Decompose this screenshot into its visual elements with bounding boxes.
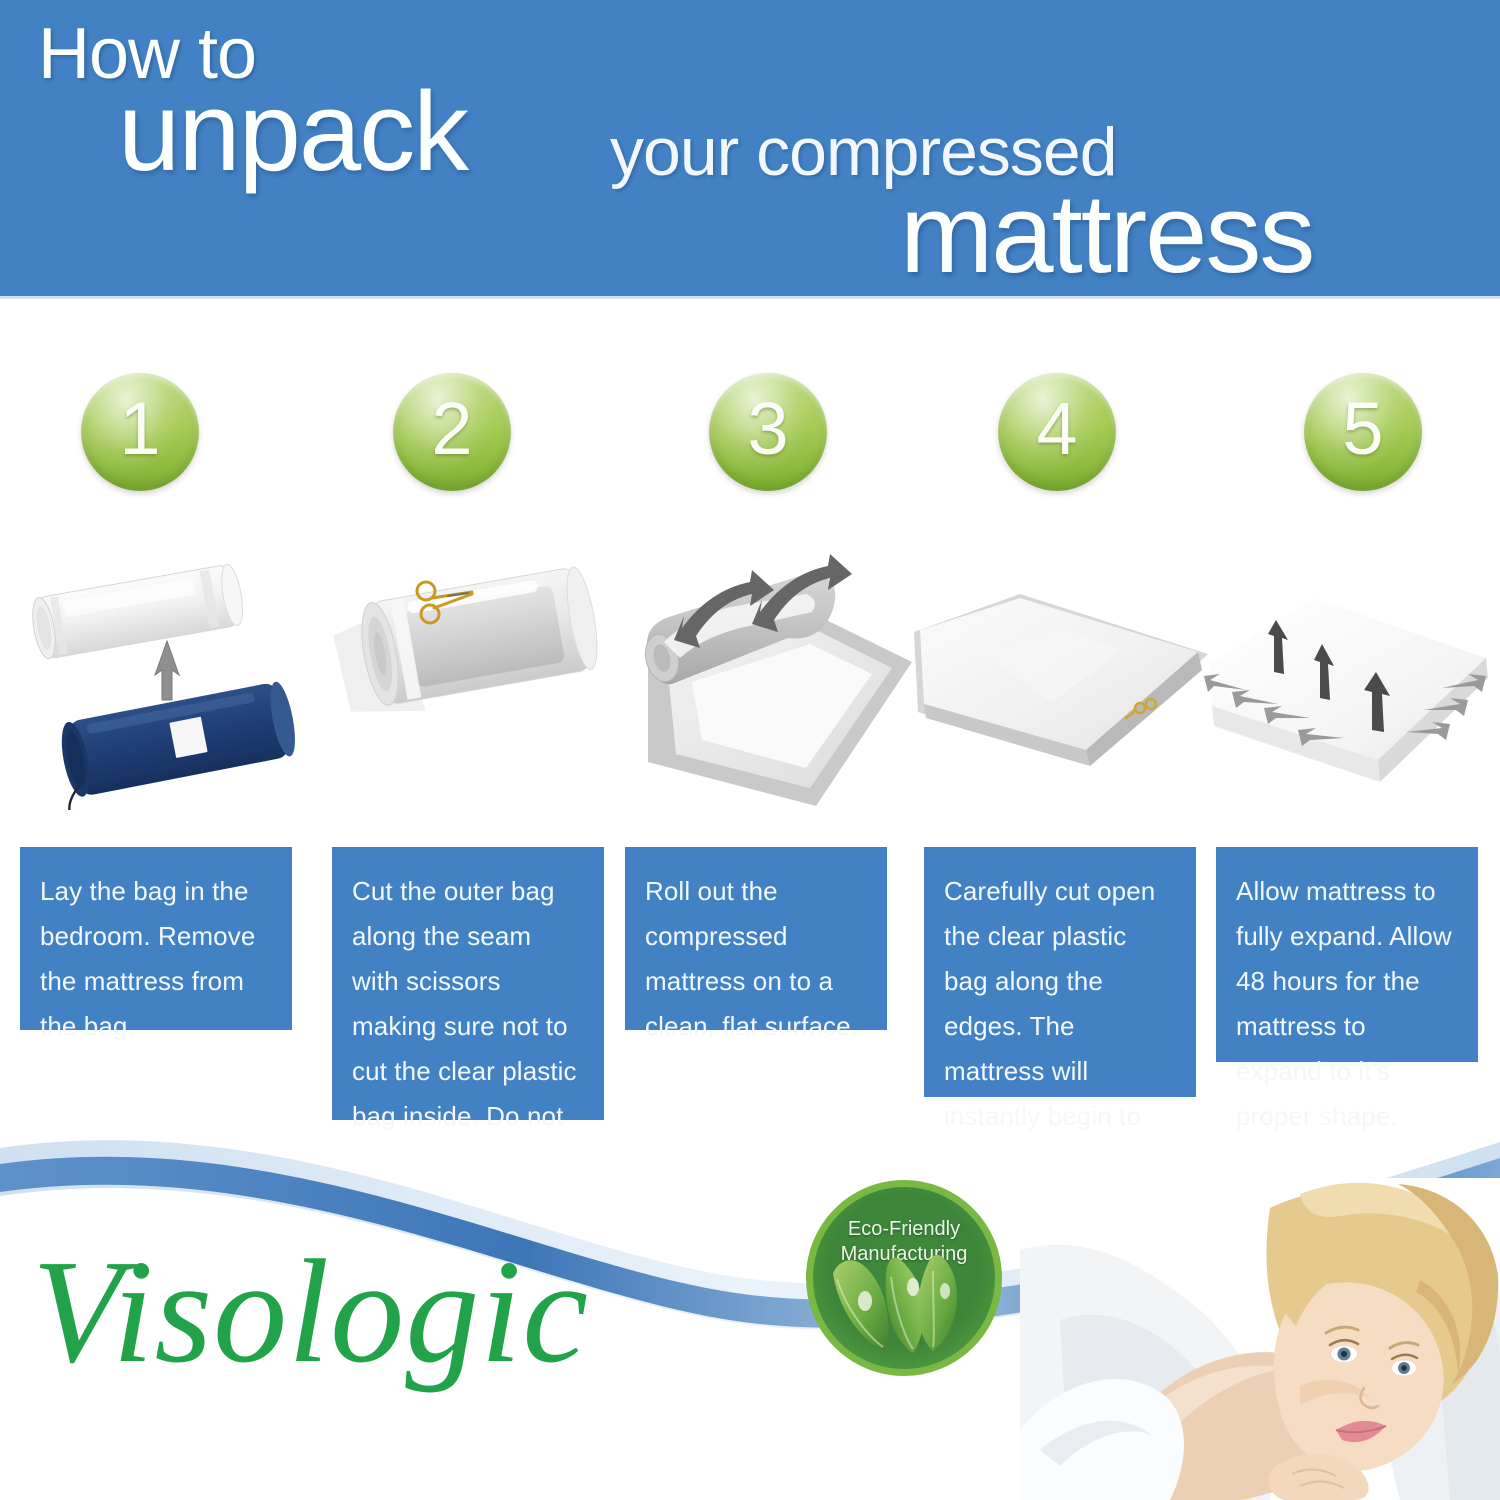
- step-text-box-4: Carefully cut open the clear plastic bag…: [924, 847, 1196, 1097]
- title-line-unpack: unpack: [118, 76, 467, 188]
- step-number-badge-3: 3: [709, 373, 827, 491]
- step-illustration-4: [912, 592, 1212, 772]
- step-number-badge-1: 1: [81, 373, 199, 491]
- step-text-5: Allow mattress to fully expand. Allow 48…: [1236, 876, 1452, 1131]
- step-number-badge-5: 5: [1304, 373, 1422, 491]
- title-line-mattress: mattress: [900, 178, 1313, 290]
- step-illustration-2: [322, 552, 622, 782]
- step-illustration-3: [620, 550, 920, 820]
- header-title-stack: How to unpack your compressed mattress: [0, 0, 1500, 296]
- step-number-4: 4: [1036, 392, 1077, 466]
- brand-logo: Visologic: [32, 1238, 589, 1386]
- header-banner: How to unpack your compressed mattress: [0, 0, 1500, 296]
- step-number-3: 3: [747, 392, 788, 466]
- lifestyle-photo: [1020, 1178, 1500, 1500]
- step-text-box-1: Lay the bag in the bedroom. Remove the m…: [20, 847, 292, 1030]
- step-text-1: Lay the bag in the bedroom. Remove the m…: [40, 876, 255, 1041]
- step-number-badge-4: 4: [998, 373, 1116, 491]
- step-text-box-2: Cut the outer bag along the seam with sc…: [332, 847, 604, 1120]
- step-number-5: 5: [1342, 392, 1383, 466]
- infographic-page: How to unpack your compressed mattress 1…: [0, 0, 1500, 1500]
- step-number-badge-2: 2: [393, 373, 511, 491]
- header-divider: [0, 296, 1500, 299]
- step-number-1: 1: [119, 392, 160, 466]
- step-text-3: Roll out the compressed mattress on to a…: [645, 876, 858, 1041]
- leaves-icon: [813, 1187, 995, 1369]
- eco-friendly-badge: Eco-Friendly Manufacturing: [806, 1180, 1002, 1376]
- step-text-box-5: Allow mattress to fully expand. Allow 48…: [1216, 847, 1478, 1062]
- step-illustration-1: [10, 550, 330, 810]
- step-illustration-5: [1202, 592, 1500, 812]
- step-number-2: 2: [431, 392, 472, 466]
- step-text-box-3: Roll out the compressed mattress on to a…: [625, 847, 887, 1030]
